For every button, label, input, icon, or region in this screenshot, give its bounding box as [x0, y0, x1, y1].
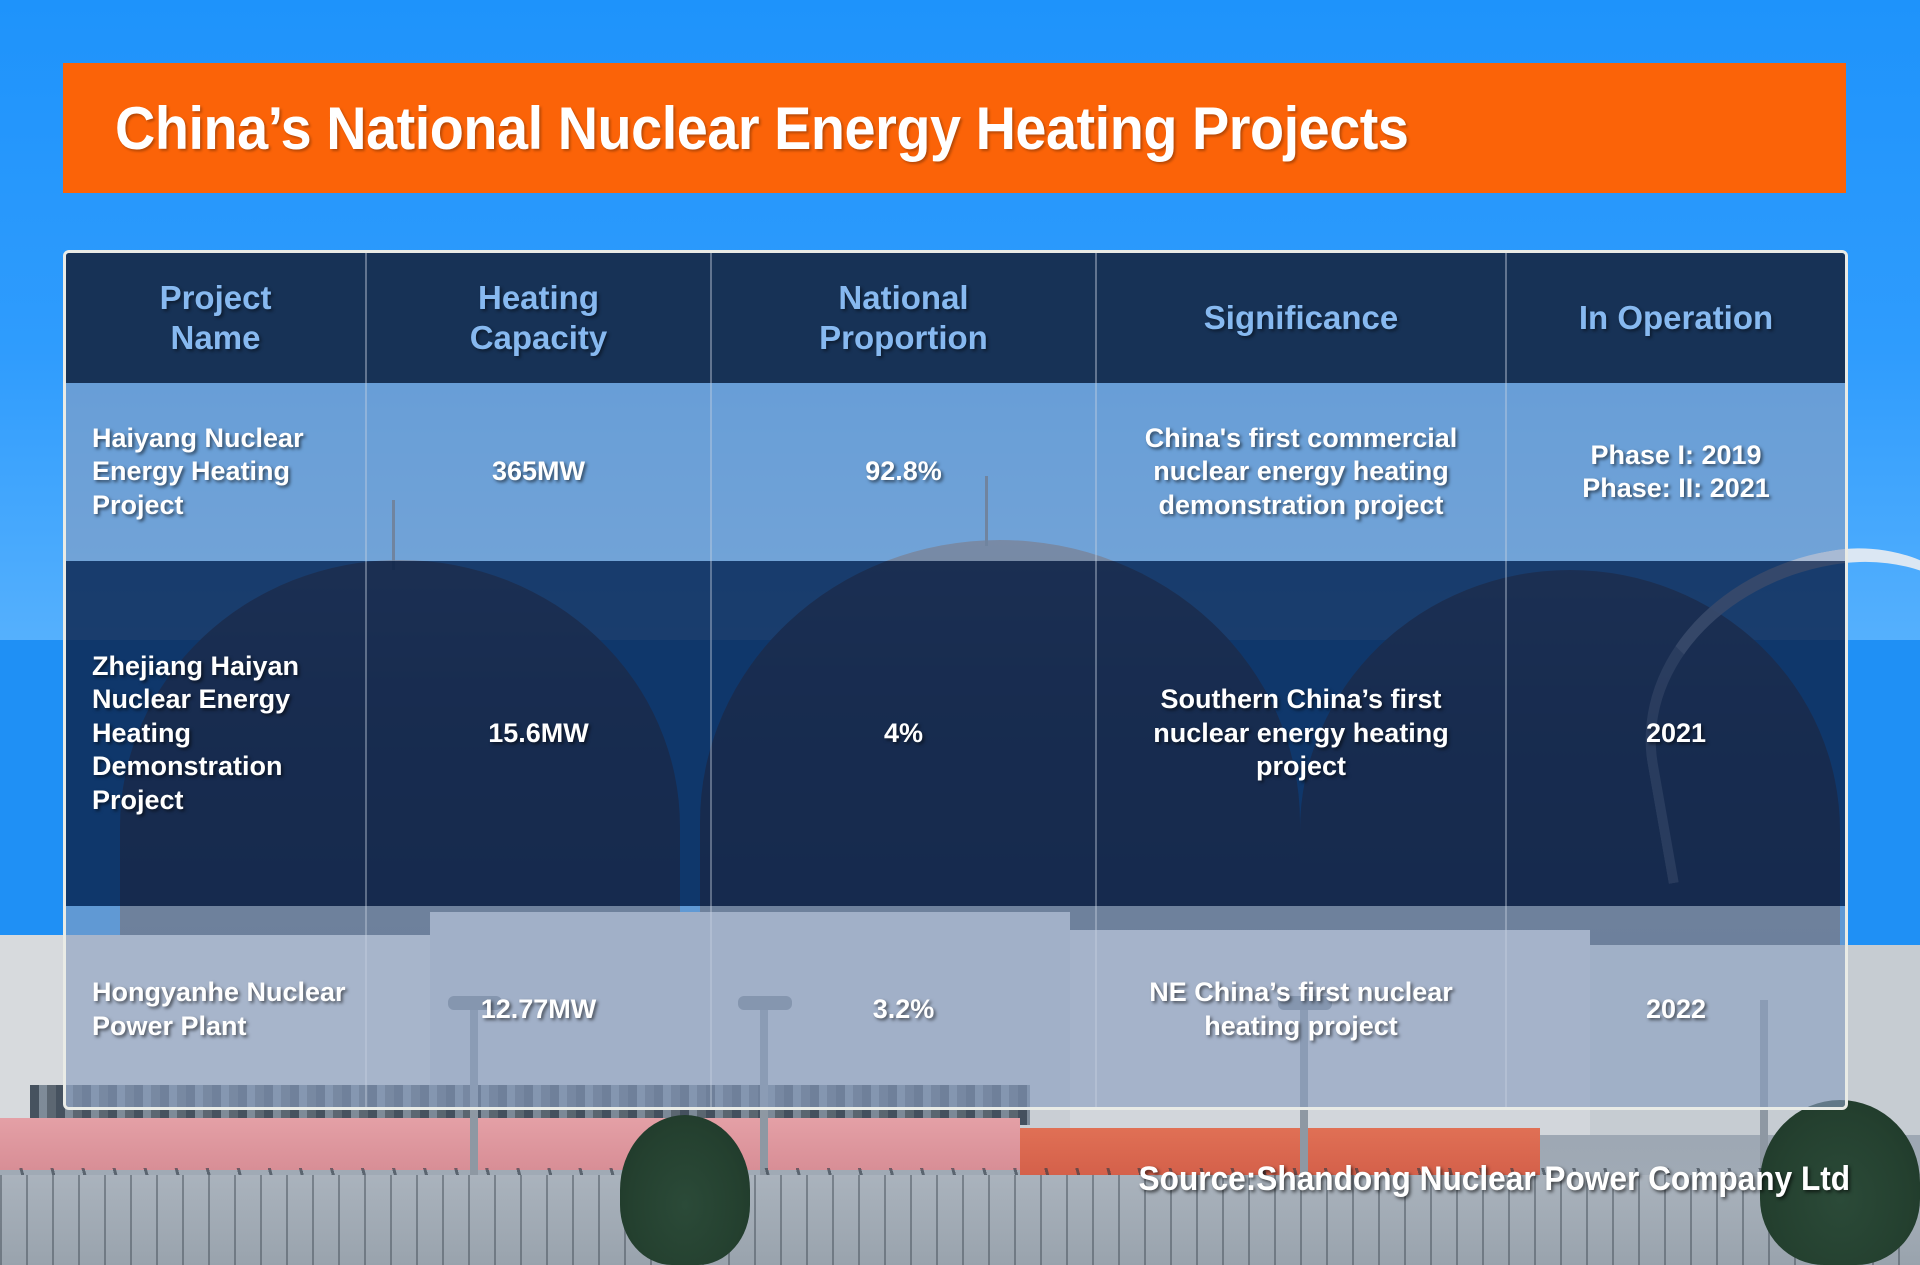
infographic-stage: China’s National Nuclear Energy Heating …	[0, 0, 1920, 1265]
cell-national-proportion: 4%	[711, 561, 1096, 906]
cell-project-name: Haiyang Nuclear Energy Heating Project	[66, 383, 366, 561]
foreground-layer: China’s National Nuclear Energy Heating …	[0, 0, 1920, 1265]
column-header-heating-capacity: Heating Capacity	[366, 253, 711, 383]
page-title: China’s National Nuclear Energy Heating …	[115, 94, 1408, 163]
cell-national-proportion: 3.2%	[711, 906, 1096, 1110]
source-attribution: Source:Shandong Nuclear Power Company Lt…	[1138, 1160, 1850, 1199]
column-header-project-name: Project Name	[66, 253, 366, 383]
projects-table: Project Name Heating Capacity National P…	[63, 250, 1848, 1110]
cell-significance: Southern China’s first nuclear energy he…	[1096, 561, 1506, 906]
cell-in-operation: Phase I: 2019 Phase: II: 2021	[1506, 383, 1845, 561]
cell-national-proportion: 92.8%	[711, 383, 1096, 561]
table-row: Hongyanhe Nuclear Power Plant 12.77MW 3.…	[66, 906, 1845, 1110]
cell-project-name: Zhejiang Haiyan Nuclear Energy Heating D…	[66, 561, 366, 906]
column-header-in-operation: In Operation	[1506, 253, 1845, 383]
cell-significance: NE China’s first nuclear heating project	[1096, 906, 1506, 1110]
cell-heating-capacity: 15.6MW	[366, 561, 711, 906]
column-header-significance: Significance	[1096, 253, 1506, 383]
cell-project-name: Hongyanhe Nuclear Power Plant	[66, 906, 366, 1110]
table-row: Zhejiang Haiyan Nuclear Energy Heating D…	[66, 561, 1845, 906]
cell-significance: China's first commercial nuclear energy …	[1096, 383, 1506, 561]
cell-heating-capacity: 12.77MW	[366, 906, 711, 1110]
table-row: Haiyang Nuclear Energy Heating Project 3…	[66, 383, 1845, 561]
column-header-national-proportion: National Proportion	[711, 253, 1096, 383]
cell-heating-capacity: 365MW	[366, 383, 711, 561]
cell-in-operation: 2021	[1506, 561, 1845, 906]
cell-in-operation: 2022	[1506, 906, 1845, 1110]
table-header-row: Project Name Heating Capacity National P…	[66, 253, 1845, 383]
title-banner: China’s National Nuclear Energy Heating …	[63, 63, 1846, 193]
